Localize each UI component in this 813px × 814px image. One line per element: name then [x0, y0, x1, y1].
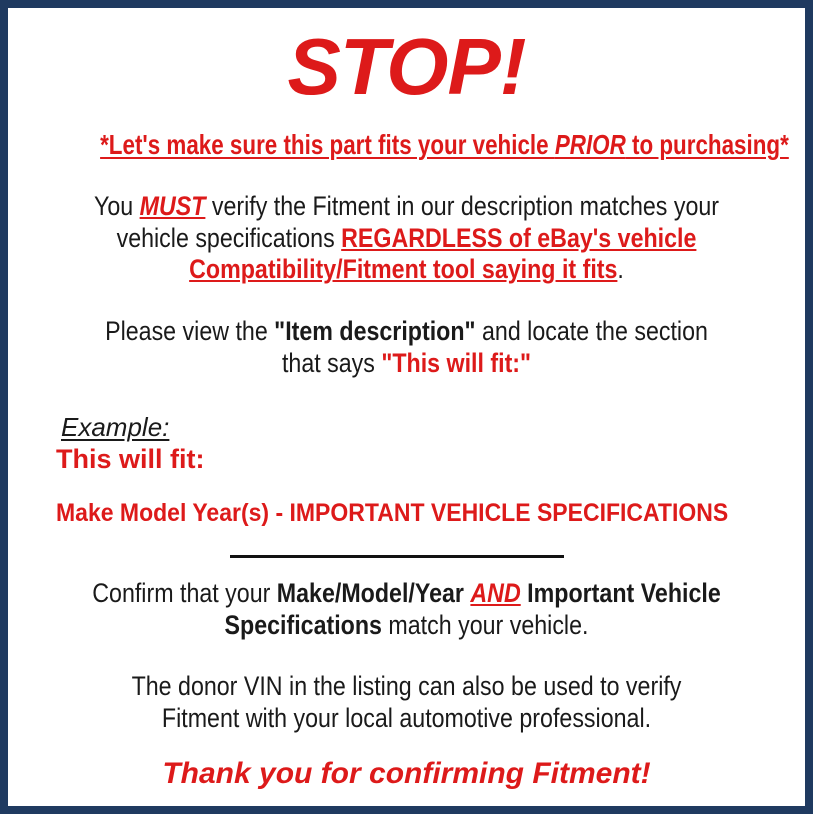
- must-verify-paragraph-inner: You MUST verify the Fitment in our descr…: [91, 191, 721, 286]
- confirm-lead: Confirm that your: [92, 578, 277, 608]
- horizontal-rule: [230, 555, 564, 558]
- divider-wrap: [14, 555, 799, 558]
- vin-paragraph: The donor VIN in the listing can also be…: [14, 671, 799, 734]
- subtitle-text-before: *Let's make sure this part fits your veh…: [100, 129, 555, 160]
- and-emphasis: AND: [470, 578, 520, 608]
- example-block: Example: This will fit: Make Model Year(…: [14, 413, 799, 528]
- fitment-notice-card: STOP! *Let's make sure this part fits yo…: [0, 0, 813, 814]
- subtitle-text-after: to purchasing*: [626, 129, 789, 160]
- closing-thank-you: Thank you for confirming Fitment!: [14, 756, 799, 792]
- item-description-paragraph: Please view the "Item description" and l…: [14, 316, 799, 379]
- item-description-paragraph-inner: Please view the "Item description" and l…: [91, 316, 721, 379]
- page-title: STOP!: [14, 27, 799, 107]
- item-desc-lead: Please view the: [105, 316, 274, 346]
- must-text-period: .: [617, 254, 623, 284]
- must-emphasis: MUST: [140, 191, 206, 221]
- notice-content: STOP! *Let's make sure this part fits yo…: [8, 27, 805, 814]
- subtitle-banner: *Let's make sure this part fits your veh…: [100, 129, 789, 161]
- make-model-year-emphasis: Make/Model/Year: [277, 578, 464, 608]
- example-spec-line: Make Model Year(s) - IMPORTANT VEHICLE S…: [56, 498, 728, 528]
- example-will-fit-heading: This will fit:: [56, 443, 799, 475]
- subtitle-row: *Let's make sure this part fits your veh…: [14, 129, 799, 161]
- vin-paragraph-inner: The donor VIN in the listing can also be…: [91, 671, 721, 734]
- confirm-paragraph: Confirm that your Make/Model/Year AND Im…: [14, 578, 799, 641]
- example-label: Example:: [61, 413, 169, 442]
- this-will-fit-quote: "This will fit:": [381, 348, 531, 378]
- must-verify-paragraph: You MUST verify the Fitment in our descr…: [14, 191, 799, 286]
- confirm-tail: match your vehicle.: [382, 610, 588, 640]
- item-description-label: "Item description": [274, 316, 475, 346]
- must-text-lead: You: [94, 191, 140, 221]
- confirm-paragraph-inner: Confirm that your Make/Model/Year AND Im…: [91, 578, 721, 641]
- subtitle-prior-emphasis: PRIOR: [555, 129, 626, 160]
